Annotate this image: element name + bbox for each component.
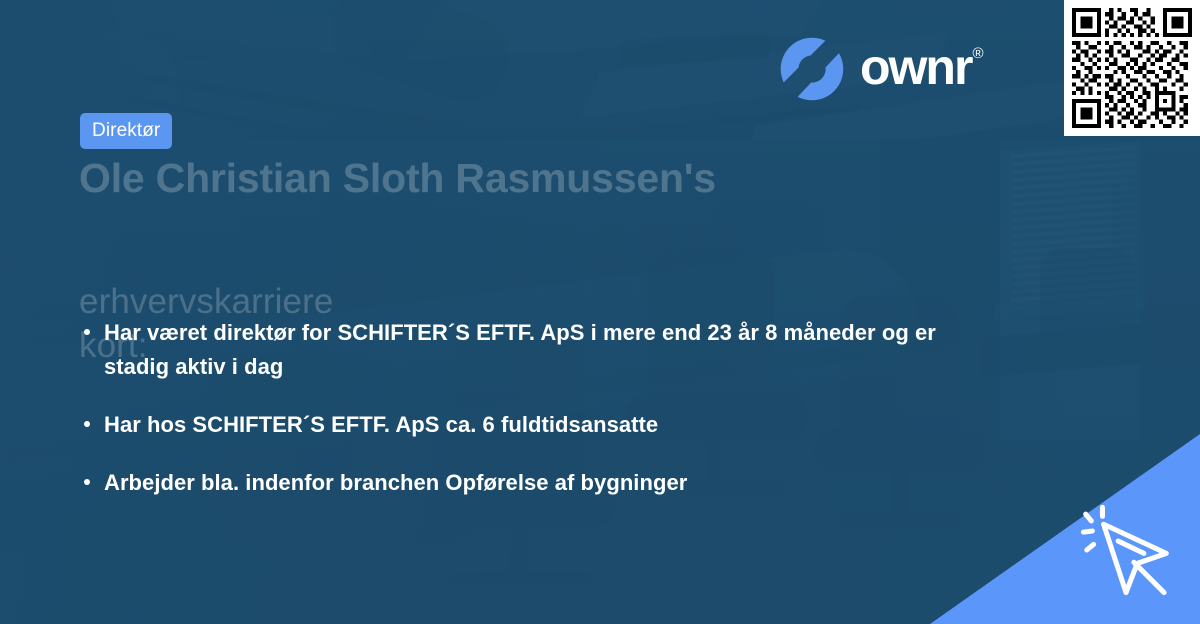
list-item-text: Arbejder bla. indenfor branchen Opførels… [104,470,687,495]
career-facts-list: Har været direktør for SCHIFTER´S EFTF. … [80,316,960,500]
bullet-dot-icon [84,479,90,485]
list-item: Har været direktør for SCHIFTER´S EFTF. … [80,316,960,384]
list-item-text: Har hos SCHIFTER´S EFTF. ApS ca. 6 fuldt… [104,412,658,437]
bullet-dot-icon [84,421,90,427]
business-career-card: Direktør Ole Christian Sloth Rasmussen's… [0,0,1200,624]
ownr-logo[interactable]: ownr® [778,35,983,103]
title-line-1: Ole Christian Sloth Rasmussen's [79,156,199,276]
list-item: Har hos SCHIFTER´S EFTF. ApS ca. 6 fuldt… [80,408,960,442]
qr-code[interactable] [1064,0,1200,136]
ownr-wordmark: ownr® [860,42,983,92]
list-item: Arbejder bla. indenfor branchen Opførels… [80,466,960,500]
registered-mark: ® [972,45,983,62]
list-item-text: Har været direktør for SCHIFTER´S EFTF. … [104,320,936,379]
bullet-dot-icon [84,329,90,335]
ownr-swirl-icon [778,35,846,103]
qr-code-icon [1072,8,1192,128]
role-badge: Direktør [80,113,172,149]
brand-name: ownr [860,39,971,95]
click-cursor-icon [1070,494,1182,606]
card-content: Direktør Ole Christian Sloth Rasmussen's… [0,0,1200,624]
